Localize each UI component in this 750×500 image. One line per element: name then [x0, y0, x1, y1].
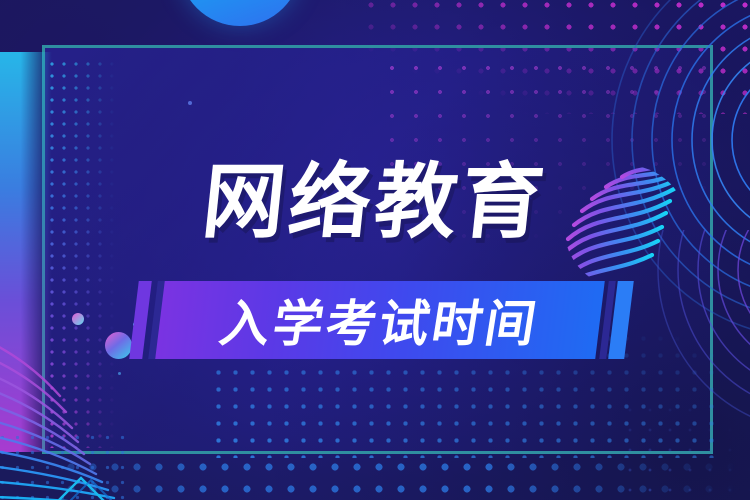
banner-stripe-left-purple	[129, 281, 152, 359]
poster-subtitle: 入学考试时间	[215, 284, 544, 356]
subtitle-banner: 入学考试时间	[0, 281, 750, 359]
chevron-outline-icon	[55, 466, 205, 500]
poster-banner: 网络教育 入学考试时间	[0, 0, 750, 500]
poster-main-title: 网络教育	[0, 162, 750, 244]
orb-speck-bottom-icon	[118, 372, 121, 375]
poster-subtitle-wrap: 入学考试时间	[155, 281, 605, 359]
orb-speck-top-icon	[188, 101, 192, 105]
